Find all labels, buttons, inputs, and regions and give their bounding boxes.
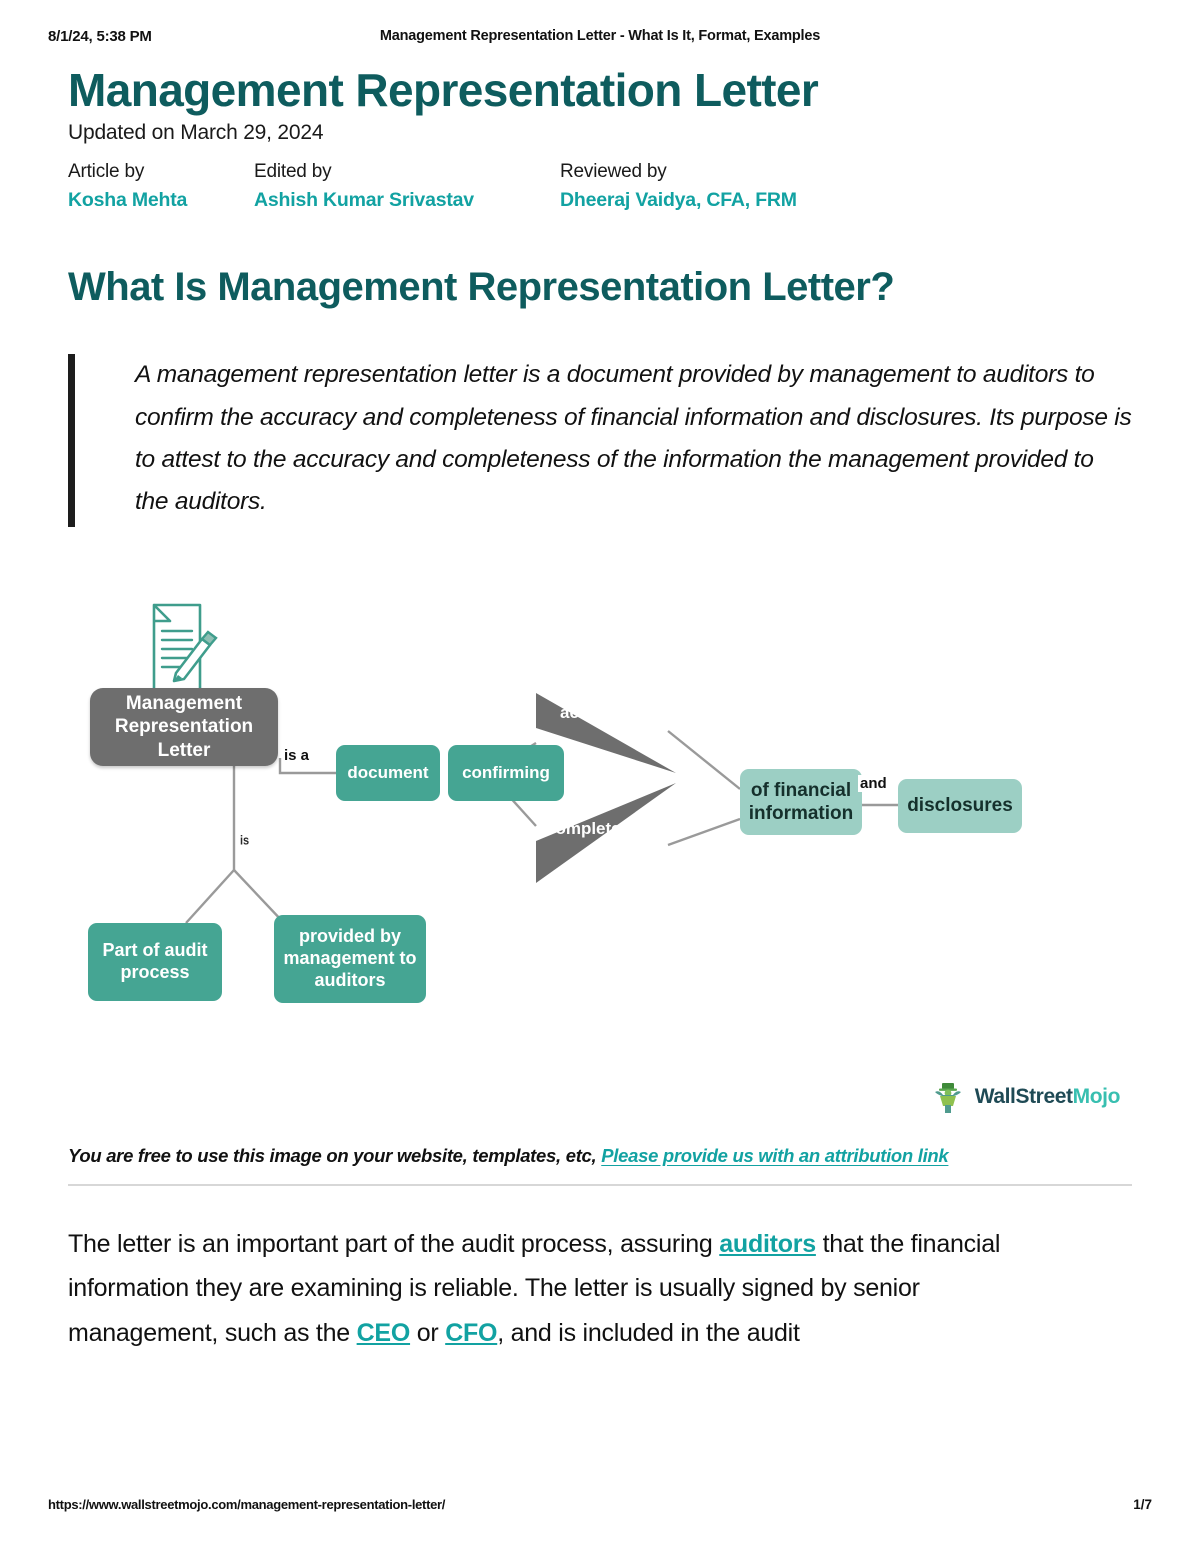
print-header: 8/1/24, 5:38 PM Management Representatio… [0,28,1200,50]
diagram-node-provided-by-label: provided by management to auditors [282,926,418,992]
diagram-node-root: Management Representation Letter [90,688,278,766]
byline-article-by: Article by Kosha Mehta [68,161,254,212]
logo-text-part2: Mojo [1073,1085,1120,1108]
byline-reviewed-by: Reviewed by Dheeraj Vaidya, CFA, FRM [560,161,797,212]
triangle-label-completeness: completeness [546,819,659,839]
diagram-node-provided-by: provided by management to auditors [274,915,426,1003]
byline-role: Article by [68,161,254,183]
byline-role: Reviewed by [560,161,797,183]
byline-editor-link[interactable]: Ashish Kumar Srivastav [254,189,560,212]
connector-branch-right [234,870,284,923]
updated-date: Updated on March 29, 2024 [68,121,1132,145]
logo-text-part1: WallStreet [975,1085,1073,1108]
image-attribution-line: You are free to use this image on your w… [68,1145,1132,1167]
connector-label-branch-glyph: is [240,834,249,848]
diagram-node-disclosures: disclosures [898,779,1022,833]
diagram-node-audit-process-label: Part of audit process [96,940,214,984]
diagram-node-document: document [336,745,440,801]
section-heading: What Is Management Representation Letter… [68,264,1018,311]
attribution-link[interactable]: Please provide us with an attribution li… [601,1145,948,1166]
triangle-label-accuracy: accuracy [560,703,634,723]
definition-blockquote: A management representation letter is a … [68,354,1132,527]
print-footer: https://www.wallstreetmojo.com/managemen… [0,1497,1200,1515]
diagram-canvas [68,583,1132,1123]
concept-diagram-figure: Management Representation Letter is a do… [68,583,1132,1123]
page-title: Management Representation Letter [68,66,1132,114]
print-footer-url: https://www.wallstreetmojo.com/managemen… [48,1497,445,1512]
wallstreetmojo-mascot-icon [930,1079,966,1115]
connector-accuracy-financial [668,731,740,789]
byline-edited-by: Edited by Ashish Kumar Srivastav [254,161,560,212]
connector-branch-left [186,870,234,923]
document-with-pencil-icon [154,605,216,695]
inline-link-ceo[interactable]: CEO [357,1319,410,1347]
diagram-node-confirming: confirming [448,745,564,801]
diagram-node-document-label: document [347,763,428,784]
print-timestamp: 8/1/24, 5:38 PM [48,28,152,45]
diagram-node-root-label: Management Representation Letter [100,692,268,762]
diagram-node-financial-information-label: of financial information [748,779,854,825]
connector-label-and: and [858,775,889,792]
body-text-part1: The letter is an important part of the a… [68,1230,719,1258]
inline-link-auditors[interactable]: auditors [719,1230,816,1258]
horizontal-divider [68,1184,1132,1186]
wallstreetmojo-logo-text: WallStreetMojo [975,1085,1120,1109]
connector-completeness-financial [668,819,740,845]
diagram-node-audit-process: Part of audit process [88,923,222,1001]
wallstreetmojo-logo: WallStreetMojo [930,1079,1120,1115]
definition-text: A management representation letter is a … [135,354,1132,523]
diagram-node-disclosures-label: disclosures [907,794,1013,817]
body-paragraph: The letter is an important part of the a… [68,1222,1048,1356]
printed-article-page: 8/1/24, 5:38 PM Management Representatio… [0,0,1200,1553]
byline-author-link[interactable]: Kosha Mehta [68,189,254,212]
connector-label-is-a: is a [282,747,311,764]
body-text-part3: or [410,1319,445,1347]
byline-role: Edited by [254,161,560,183]
inline-link-cfo[interactable]: CFO [445,1319,497,1347]
body-text-part4: , and is included in the audit [497,1319,799,1347]
diagram-node-confirming-label: confirming [462,763,550,784]
print-footer-page-number: 1/7 [1133,1497,1152,1512]
print-document-title: Management Representation Letter - What … [380,28,820,44]
diagram-node-financial-information: of financial information [740,769,862,835]
attribution-text: You are free to use this image on your w… [68,1145,596,1166]
byline-row: Article by Kosha Mehta Edited by Ashish … [68,161,1132,212]
article-content: Management Representation Letter Updated… [68,66,1132,1380]
byline-reviewer-link[interactable]: Dheeraj Vaidya, CFA, FRM [560,189,797,212]
